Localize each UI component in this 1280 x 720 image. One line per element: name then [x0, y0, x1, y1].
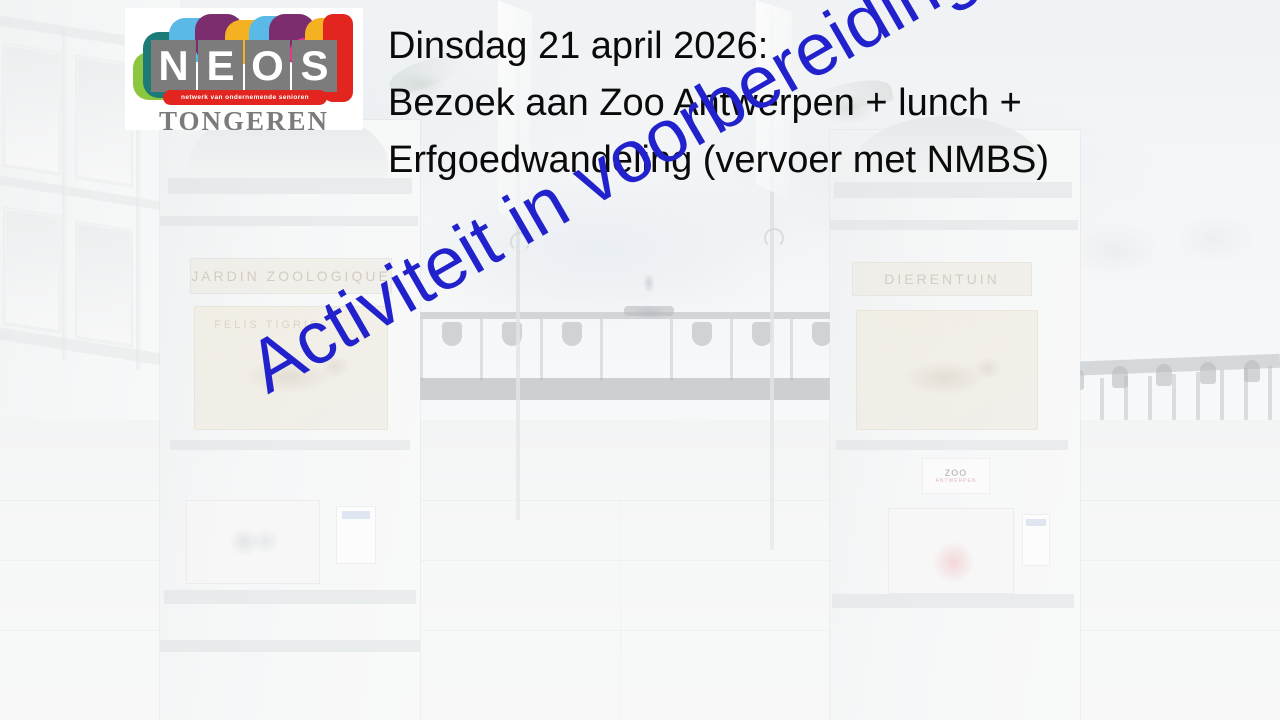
railing-shield: [752, 322, 772, 346]
neos-tongeren-logo: N E O S netwerk van ondernemende seniore…: [125, 8, 363, 130]
pylon-plinth: [832, 594, 1074, 608]
flamingo-figure: [924, 524, 984, 588]
butterfly-poster: [186, 500, 320, 584]
window: [4, 44, 60, 175]
notice-strip: [342, 511, 371, 519]
pylon-plinth: [164, 590, 416, 604]
tiger-figure: [879, 346, 1016, 407]
railing-bar: [670, 319, 673, 381]
neos-letter-s: S: [292, 40, 337, 92]
neos-tagline: netwerk van ondernemende senioren: [163, 90, 327, 105]
logo-graphic: N E O S netwerk van ondernemende seniore…: [133, 14, 355, 126]
zoo-sign-main-text: ZOO: [945, 468, 968, 478]
tiger-mosaic-right: [856, 310, 1038, 430]
railing-bar: [420, 319, 423, 381]
pylon-cornice: [168, 178, 412, 194]
neos-letter-e: E: [198, 40, 243, 92]
notice-strip: [1026, 519, 1046, 526]
railing-bar: [480, 319, 483, 381]
railing-bar: [600, 319, 603, 381]
presentation-slide: JARDIN ZOOLOGIQUE FELIS TIGRIS DIERENTU: [0, 0, 1280, 720]
railing-shield: [562, 322, 582, 346]
dierentuin-plaque: DIERENTUIN: [852, 262, 1032, 296]
neos-letter-n: N: [151, 40, 196, 92]
butterfly-figure: [227, 519, 282, 565]
zoo-sign-sub-text: ANTWERPEN: [936, 478, 977, 484]
railing-shield: [812, 322, 832, 346]
left-gate-pylon: JARDIN ZOOLOGIQUE FELIS TIGRIS: [160, 120, 420, 720]
railing-bar: [790, 319, 793, 381]
window: [76, 222, 132, 347]
info-notice-left: [336, 506, 376, 564]
neos-letter-o: O: [245, 40, 290, 92]
window: [4, 208, 60, 333]
pylon-cornice: [160, 216, 418, 226]
zoo-antwerpen-sign: ZOO ANTWERPEN: [922, 458, 990, 494]
flamingo-poster: [888, 508, 1014, 594]
info-notice-right: [1022, 514, 1050, 566]
pylon-cornice: [830, 220, 1078, 230]
fence-ornament: [1200, 362, 1216, 384]
railing-shield: [442, 322, 462, 346]
pilaster: [62, 29, 69, 360]
pylon-cornice: [836, 440, 1068, 450]
right-gate-pylon: DIERENTUIN ZOO ANTWERPEN: [830, 130, 1080, 720]
pylon-cornice: [170, 440, 410, 450]
window: [76, 56, 132, 187]
paving-joint: [620, 500, 621, 720]
railing-shield: [692, 322, 712, 346]
fence-ornament: [1156, 364, 1172, 386]
flagpole-finial-right: [764, 228, 784, 248]
railing-bar: [730, 319, 733, 381]
dierentuin-text: DIERENTUIN: [884, 271, 1000, 287]
crown-band: [624, 306, 674, 316]
pylon-plinth: [160, 640, 420, 652]
neos-chapter-tongeren: TONGEREN: [133, 106, 355, 130]
railing-bar: [540, 319, 543, 381]
neos-letter-band: N E O S: [151, 40, 337, 92]
